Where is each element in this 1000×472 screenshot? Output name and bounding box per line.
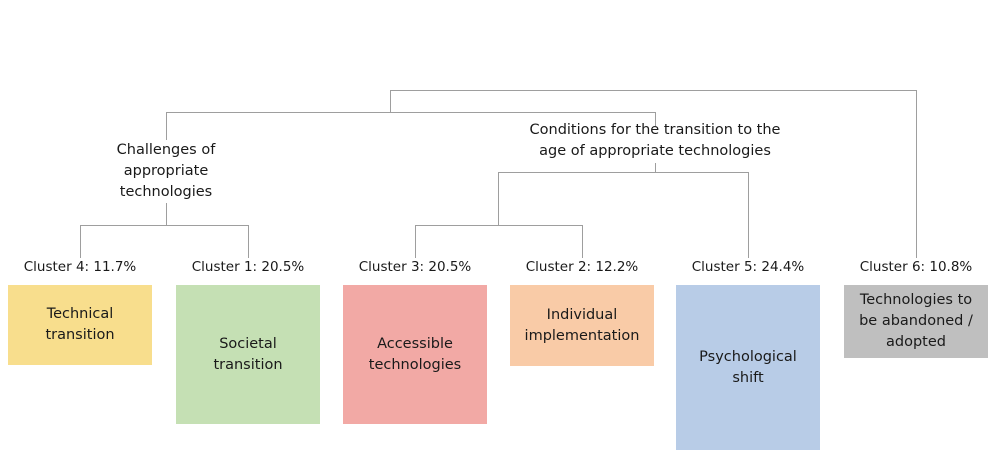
root-top-connector bbox=[390, 90, 916, 91]
cluster4-stem bbox=[80, 225, 81, 258]
challenges-bracket-stem bbox=[166, 203, 167, 225]
leaf-caption-cluster5: Cluster 5: 24.4% bbox=[676, 258, 820, 276]
leaf-caption-cluster6: Cluster 6: 10.8% bbox=[844, 258, 988, 276]
leaf-box-label-cluster1: Societal transition bbox=[213, 334, 282, 376]
root-second-connector bbox=[166, 112, 655, 113]
leaf-caption-cluster3: Cluster 3: 20.5% bbox=[343, 258, 487, 276]
conditions-bracket bbox=[498, 172, 748, 173]
cluster5-stem bbox=[748, 172, 749, 258]
node-label-challenges: Challenges of appropriate technologies bbox=[86, 140, 246, 203]
leaf-box-cluster3[interactable]: Accessible technologies bbox=[343, 285, 487, 424]
leaf-caption-cluster2: Cluster 2: 12.2% bbox=[510, 258, 654, 276]
leaf-box-cluster4[interactable]: Technical transition bbox=[8, 285, 152, 365]
leaf-box-cluster5[interactable]: Psychological shift bbox=[676, 285, 820, 450]
challenges-node-stem bbox=[166, 112, 167, 140]
leaf-box-label-cluster2: Individual implementation bbox=[525, 305, 640, 347]
node-label-conditions: Conditions for the transition to the age… bbox=[485, 120, 825, 162]
leaf-box-label-cluster6: Technologies to be abandoned / adopted bbox=[859, 290, 973, 353]
leaf-box-cluster6[interactable]: Technologies to be abandoned / adopted bbox=[844, 285, 988, 358]
leaf-box-label-cluster4: Technical transition bbox=[45, 304, 114, 346]
dendrogram-figure: Challenges of appropriate technologies C… bbox=[0, 0, 1000, 472]
leaf-box-label-cluster5: Psychological shift bbox=[699, 347, 797, 389]
conditions-bracket-stem bbox=[655, 163, 656, 172]
root-stem bbox=[390, 90, 391, 112]
cluster2-stem bbox=[582, 225, 583, 258]
challenges-bracket bbox=[80, 225, 248, 226]
leaf-box-label-cluster3: Accessible technologies bbox=[369, 334, 461, 376]
cluster3-stem bbox=[415, 225, 416, 258]
leaf-box-cluster2[interactable]: Individual implementation bbox=[510, 285, 654, 366]
cluster32-bracket bbox=[415, 225, 582, 226]
leaf-caption-cluster1: Cluster 1: 20.5% bbox=[176, 258, 320, 276]
cluster1-stem bbox=[248, 225, 249, 258]
conditions-subgroup-stem bbox=[498, 172, 499, 225]
leaf-box-cluster1[interactable]: Societal transition bbox=[176, 285, 320, 424]
cluster6-stem bbox=[916, 90, 917, 258]
leaf-caption-cluster4: Cluster 4: 11.7% bbox=[8, 258, 152, 276]
